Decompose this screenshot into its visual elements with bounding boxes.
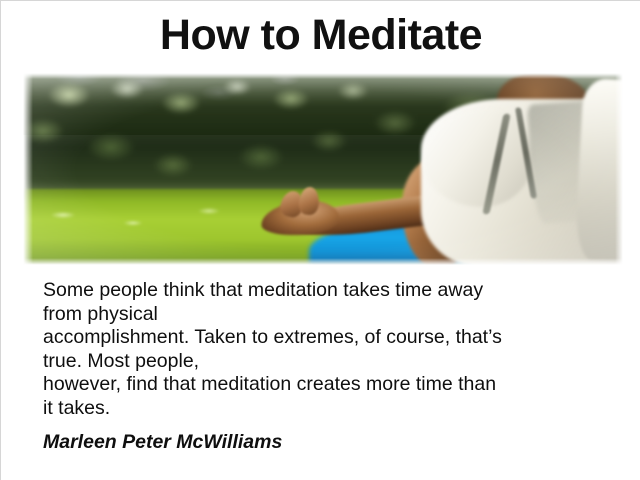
- body-line: however, find that meditation creates mo…: [43, 373, 609, 397]
- body-line: Some people think that meditation takes …: [43, 279, 609, 303]
- body-text-block: Some people think that meditation takes …: [43, 279, 609, 420]
- body-line: true. Most people,: [43, 350, 609, 374]
- photo-soft-vignette: [23, 73, 623, 265]
- quote-attribution: Marleen Peter McWilliams: [43, 431, 282, 455]
- meditation-photo: [23, 73, 623, 265]
- page-title: How to Meditate: [1, 9, 640, 61]
- body-line: accomplishment. Taken to extremes, of co…: [43, 326, 609, 350]
- body-line: it takes.: [43, 397, 609, 421]
- body-line: from physical: [43, 303, 609, 327]
- presentation-slide: How to Meditate Some people think that m…: [0, 0, 640, 480]
